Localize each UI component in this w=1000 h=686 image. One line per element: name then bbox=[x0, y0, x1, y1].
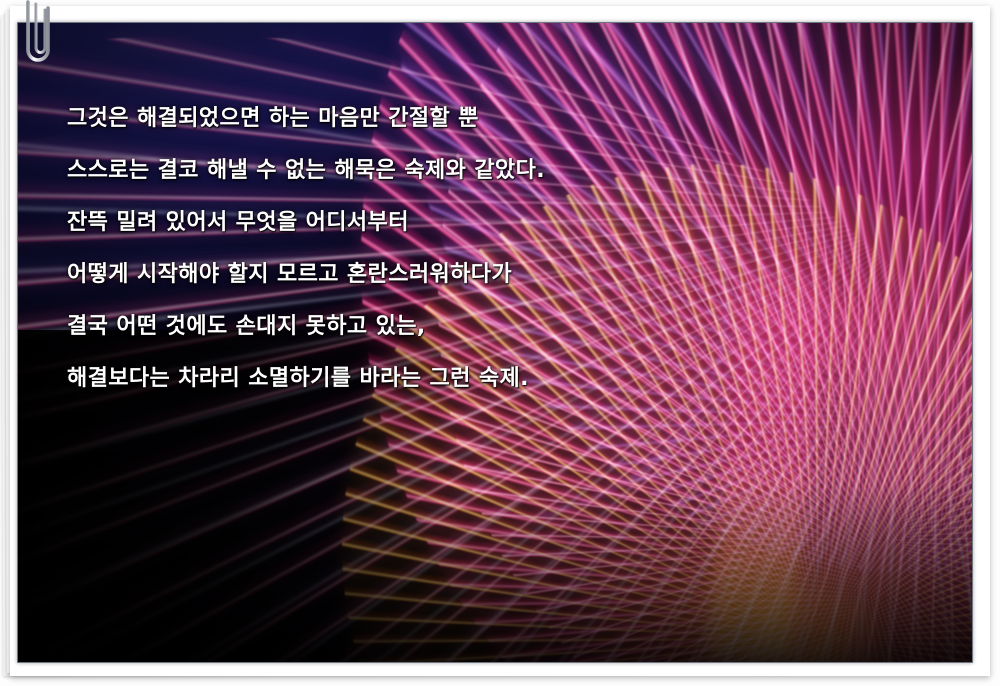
photo-area: 그것은 해결되었으면 하는 마음만 간절할 뿐 스스로는 결코 해낼 수 없는 … bbox=[17, 22, 973, 663]
poem-line-1: 그것은 해결되었으면 하는 마음만 간절할 뿐 bbox=[67, 93, 947, 145]
poem-line-4: 어떻게 시작해야 할지 모르고 혼란스러워하다가 bbox=[67, 249, 947, 301]
poem-line-6: 해결보다는 차라리 소멸하기를 바라는 그런 숙제. bbox=[67, 353, 947, 405]
poem-line-5: 결국 어떤 것에도 손대지 못하고 있는, bbox=[67, 301, 947, 353]
poem-line-2: 스스로는 결코 해낼 수 없는 해묵은 숙제와 같았다. bbox=[67, 145, 947, 197]
page-canvas: 그것은 해결되었으면 하는 마음만 간절할 뿐 스스로는 결코 해낼 수 없는 … bbox=[0, 0, 1000, 686]
paperclip-icon bbox=[14, 0, 60, 76]
poem-text-block: 그것은 해결되었으면 하는 마음만 간절할 뿐 스스로는 결코 해낼 수 없는 … bbox=[67, 93, 947, 405]
poem-line-3: 잔뜩 밀려 있어서 무엇을 어디서부터 bbox=[67, 197, 947, 249]
